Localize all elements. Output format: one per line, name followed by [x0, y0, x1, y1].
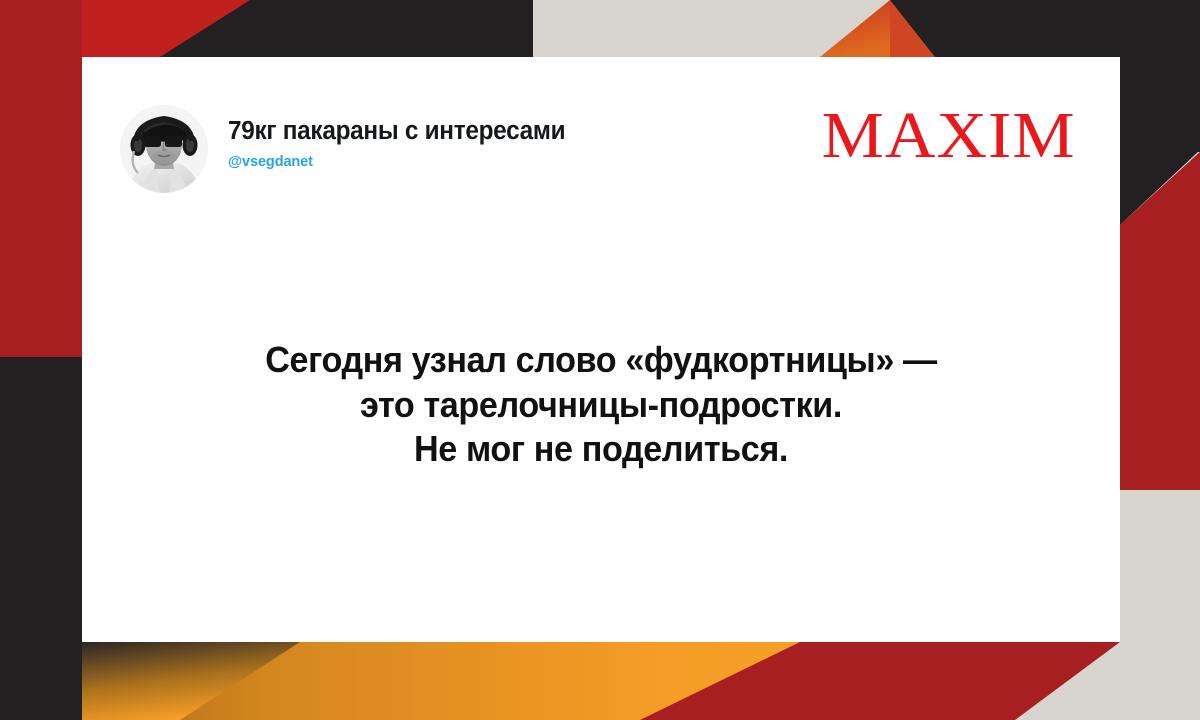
quote-line-2: это тарелочницы-подростки. [116, 383, 1087, 428]
bg-left-red-strip-2 [0, 0, 82, 357]
avatar[interactable] [120, 105, 208, 193]
maxim-logo: MAXIM [822, 103, 1076, 169]
card-header: 79кг пакараны с интересами @vsegdanet MA… [82, 57, 1120, 207]
bg-bottom-left-black [0, 642, 82, 720]
quote-text: Сегодня узнал слово «фудкортницы» — это … [82, 338, 1120, 472]
account-display-name: 79кг пакараны с интересами [228, 117, 763, 146]
screenshot-canvas: 79кг пакараны с интересами @vsegdanet MA… [0, 0, 1200, 720]
avatar-photo-icon [120, 105, 208, 193]
account-handle[interactable]: @vsegdanet [228, 154, 788, 170]
account-block: 79кг пакараны с интересами @vsegdanet [228, 117, 788, 170]
bg-right-black-upper [1120, 0, 1200, 152]
quote-line-3: Не мог не поделиться. [116, 427, 1087, 472]
quote-line-1: Сегодня узнал слово «фудкортницы» — [116, 338, 1087, 383]
quote-card: 79кг пакараны с интересами @vsegdanet MA… [82, 57, 1120, 642]
